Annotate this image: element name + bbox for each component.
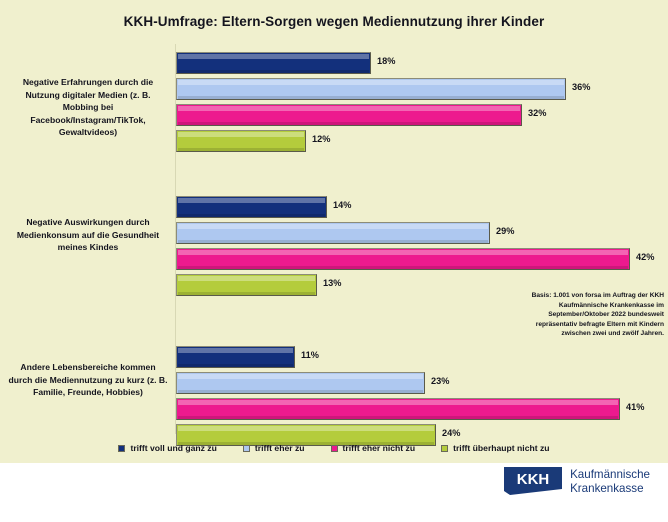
bar-s1-c2[interactable] [176,372,425,394]
chart-title: KKH-Umfrage: Eltern-Sorgen wegen Medienn… [0,14,668,29]
legend-item-1[interactable]: trifft eher zu [243,443,305,453]
bar-group-1: 14% 29% 42% 13% [176,196,646,300]
bar-row: 29% [176,222,646,246]
bar-value-label: 11% [301,350,319,360]
bar-value-label: 14% [333,200,351,210]
category-label-0: Negative Erfahrungen durch die Nutzung d… [8,76,168,139]
bar-s3-c1[interactable] [176,274,317,296]
bar-s2-c1[interactable] [176,248,630,270]
category-label-2: Andere Lebensbereiche kommen durch die M… [8,361,168,399]
bar-row: 12% [176,130,646,154]
bar-row: 14% [176,196,646,220]
basis-line-2: Kaufmännische Krankenkasse im [559,302,664,309]
bar-value-label: 42% [636,252,654,262]
kkh-logo: KKH Kaufmännische Krankenkasse [504,467,650,495]
kkh-logo-mark-text: KKH [517,471,550,488]
bar-s2-c0[interactable] [176,104,522,126]
kkh-logo-line-1: Kaufmännische [570,468,650,482]
bar-value-label: 24% [442,428,460,438]
basis-line-5: zwischen zwei und zwölf Jahren. [561,330,664,337]
legend-label: trifft voll und ganz zu [130,443,216,453]
bar-s3-c0[interactable] [176,130,306,152]
bar-row: 23% [176,372,646,396]
legend-swatch-icon [118,445,125,452]
bar-row: 42% [176,248,646,272]
category-label-1: Negative Auswirkungen durch Medienkonsum… [8,216,168,254]
kkh-logo-line-2: Krankenkasse [570,482,650,496]
basis-line-1: Basis: 1.001 von forsa im Auftrag der KK… [532,292,664,299]
bar-value-label: 12% [312,134,330,144]
bar-value-label: 36% [572,82,590,92]
bar-s0-c2[interactable] [176,346,295,368]
legend-label: trifft überhaupt nicht zu [453,443,549,453]
legend-swatch-icon [441,445,448,452]
bar-row: 32% [176,104,646,128]
plot-area: 18% 36% 32% 12% 14% 29% [176,44,646,434]
kkh-logo-wordmark: Kaufmännische Krankenkasse [570,467,650,495]
bar-row: 36% [176,78,646,102]
basis-line-4: repräsentativ befragte Eltern mit Kinder… [536,321,664,328]
legend-item-3[interactable]: trifft überhaupt nicht zu [441,443,549,453]
bar-s1-c0[interactable] [176,78,566,100]
legend-label: trifft eher zu [255,443,305,453]
legend-swatch-icon [331,445,338,452]
bar-group-2: 11% 23% 41% 24% [176,346,646,450]
bar-s0-c0[interactable] [176,52,371,74]
chart-container: KKH-Umfrage: Eltern-Sorgen wegen Medienn… [0,0,668,522]
legend-item-0[interactable]: trifft voll und ganz zu [118,443,216,453]
bar-row: 18% [176,52,646,76]
bar-s2-c2[interactable] [176,398,620,420]
footer-band: KKH Kaufmännische Krankenkasse [0,463,668,522]
bar-s0-c1[interactable] [176,196,327,218]
bar-value-label: 29% [496,226,514,236]
bar-value-label: 23% [431,376,449,386]
legend-swatch-icon [243,445,250,452]
bar-s1-c1[interactable] [176,222,490,244]
kkh-logo-mark-icon: KKH [504,467,562,495]
bar-row: 41% [176,398,646,422]
legend-item-2[interactable]: trifft eher nicht zu [331,443,416,453]
basis-line-3: September/Oktober 2022 bundesweit [548,311,664,318]
bar-value-label: 13% [323,278,341,288]
chart-legend: trifft voll und ganz zu trifft eher zu t… [0,443,668,453]
bar-row: 11% [176,346,646,370]
basis-note: Basis: 1.001 von forsa im Auftrag der KK… [494,291,664,339]
legend-label: trifft eher nicht zu [343,443,416,453]
bar-value-label: 32% [528,108,546,118]
bar-group-0: 18% 36% 32% 12% [176,52,646,156]
bar-value-label: 41% [626,402,644,412]
bar-value-label: 18% [377,56,395,66]
